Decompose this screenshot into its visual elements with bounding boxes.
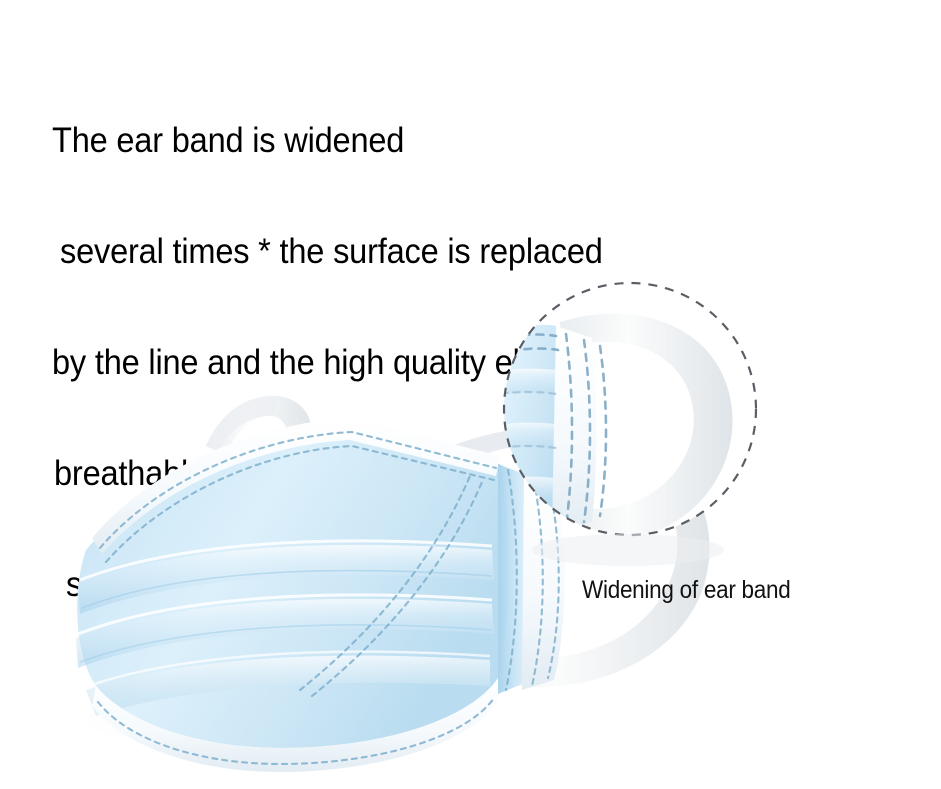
product-infographic: The ear band is widened several times * …: [0, 0, 941, 789]
magnifier-caption: Widening of ear band: [582, 576, 791, 605]
headline-line-1: The ear band is widened: [52, 122, 879, 159]
mask-illustration: [0, 250, 941, 789]
magnifier-floor-shadow: [532, 534, 724, 566]
